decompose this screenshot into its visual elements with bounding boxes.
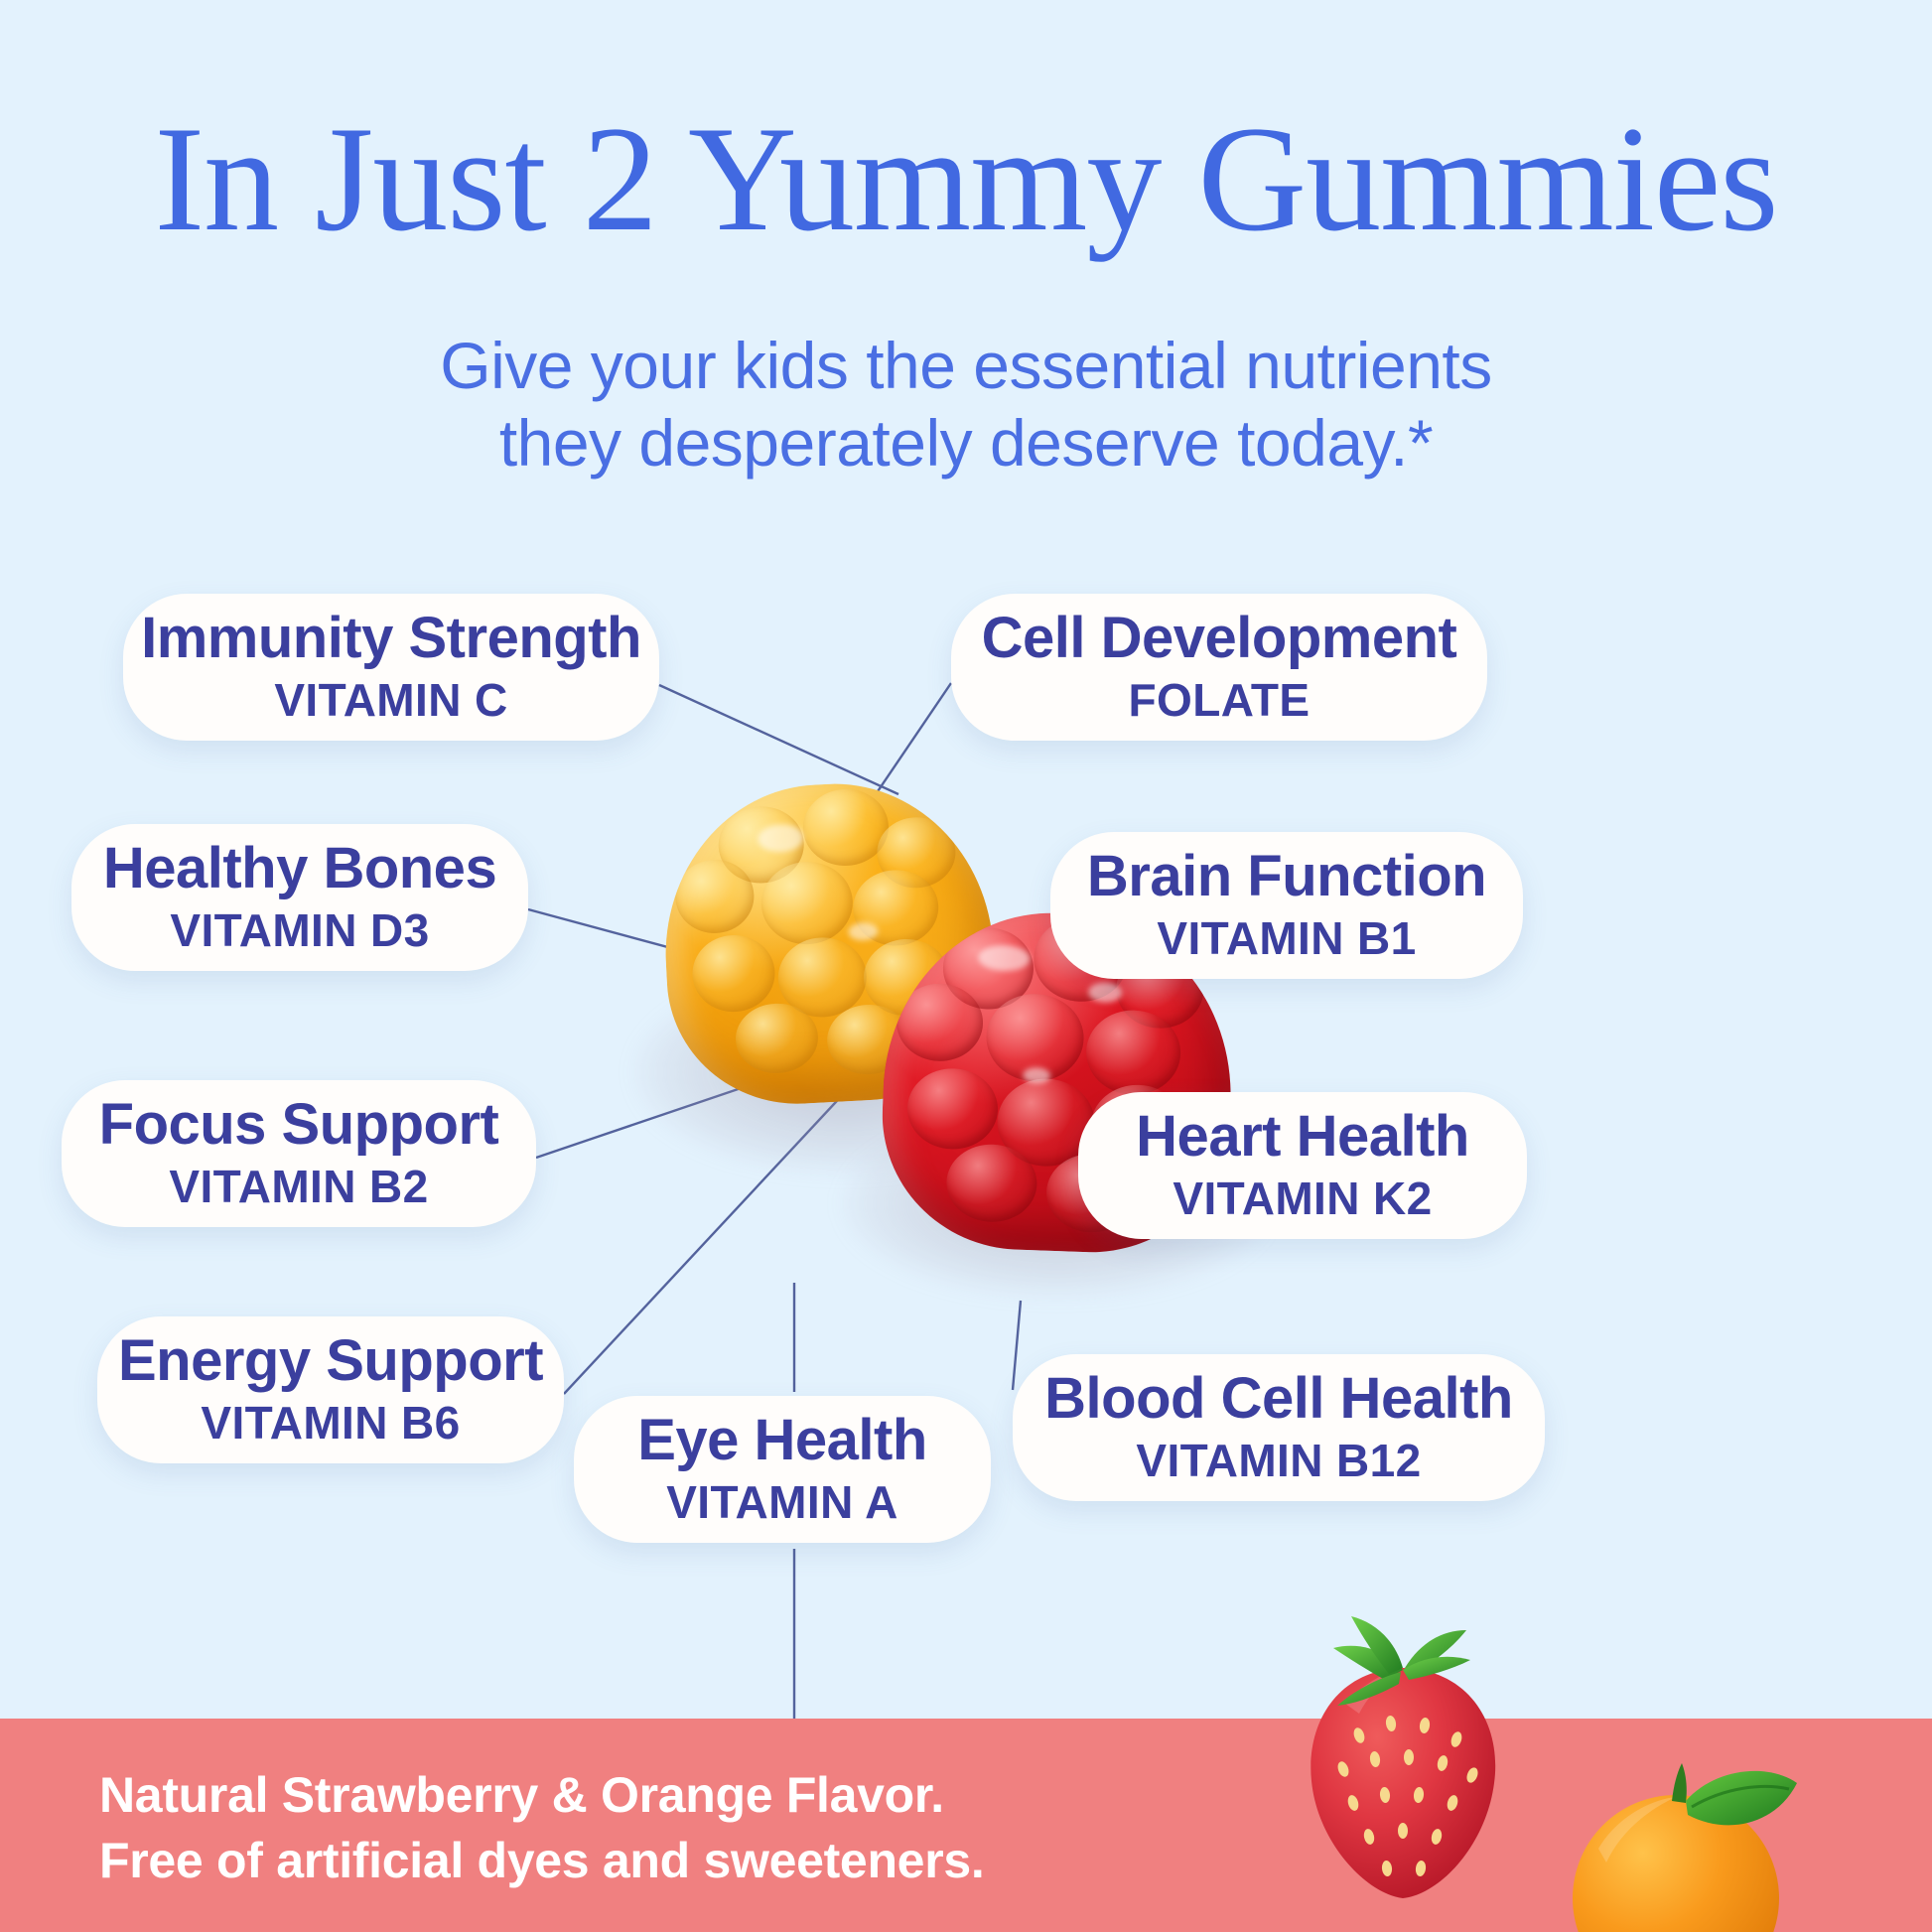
benefit-pill-heart-health[interactable]: Heart Health VITAMIN K2 bbox=[1078, 1092, 1527, 1239]
benefit-vitamin: VITAMIN B1 bbox=[1157, 911, 1416, 965]
strawberry-icon bbox=[1276, 1608, 1534, 1906]
benefit-name: Immunity Strength bbox=[141, 608, 641, 668]
banner-line-2: Free of artificial dyes and sweeteners. bbox=[99, 1828, 984, 1893]
benefit-pill-blood-cell-health[interactable]: Blood Cell Health VITAMIN B12 bbox=[1013, 1354, 1545, 1501]
benefit-pill-cell-development[interactable]: Cell Development FOLATE bbox=[951, 594, 1487, 741]
benefit-pill-focus-support[interactable]: Focus Support VITAMIN B2 bbox=[62, 1080, 536, 1227]
benefit-name: Eye Health bbox=[637, 1410, 927, 1470]
benefit-vitamin: VITAMIN B12 bbox=[1136, 1434, 1421, 1487]
benefit-name: Blood Cell Health bbox=[1044, 1368, 1513, 1429]
benefit-pill-brain-function[interactable]: Brain Function VITAMIN B1 bbox=[1050, 832, 1523, 979]
benefit-name: Heart Health bbox=[1136, 1106, 1469, 1167]
benefit-name: Cell Development bbox=[982, 608, 1457, 668]
benefit-vitamin: VITAMIN K2 bbox=[1173, 1172, 1432, 1225]
benefit-vitamin: FOLATE bbox=[1129, 673, 1311, 727]
benefit-name: Energy Support bbox=[118, 1330, 543, 1391]
benefit-vitamin: VITAMIN C bbox=[274, 673, 507, 727]
banner-line-1: Natural Strawberry & Orange Flavor. bbox=[99, 1762, 984, 1828]
benefit-pill-healthy-bones[interactable]: Healthy Bones VITAMIN D3 bbox=[71, 824, 528, 971]
benefit-vitamin: VITAMIN B2 bbox=[169, 1160, 428, 1213]
benefit-name: Focus Support bbox=[99, 1094, 499, 1155]
benefit-pill-eye-health[interactable]: Eye Health VITAMIN A bbox=[574, 1396, 991, 1543]
benefit-vitamin: VITAMIN B6 bbox=[201, 1396, 460, 1449]
banner-text: Natural Strawberry & Orange Flavor. Free… bbox=[99, 1762, 984, 1893]
orange-fruit-icon bbox=[1559, 1757, 1807, 1932]
benefit-name: Healthy Bones bbox=[103, 838, 496, 898]
benefit-vitamin: VITAMIN D3 bbox=[170, 903, 429, 957]
benefit-pill-energy-support[interactable]: Energy Support VITAMIN B6 bbox=[97, 1316, 564, 1463]
infographic-canvas: In Just 2 Yummy Gummies Give your kids t… bbox=[0, 0, 1932, 1932]
benefit-pill-immunity-strength[interactable]: Immunity Strength VITAMIN C bbox=[123, 594, 659, 741]
benefit-name: Brain Function bbox=[1087, 846, 1486, 906]
line-immunity-strength bbox=[659, 685, 898, 794]
benefit-vitamin: VITAMIN A bbox=[666, 1475, 898, 1529]
